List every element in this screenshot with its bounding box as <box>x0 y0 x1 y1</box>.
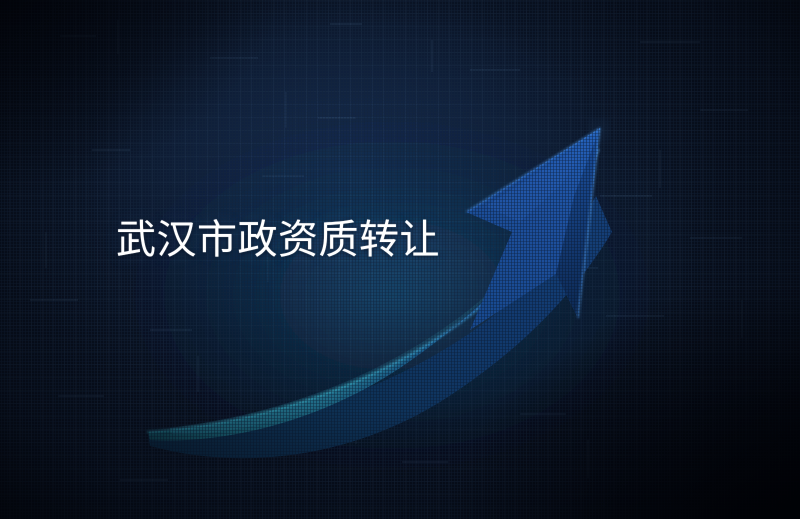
promo-banner: 武汉市政资质转让 <box>0 0 800 519</box>
banner-headline: 武汉市政资质转让 <box>116 216 440 264</box>
